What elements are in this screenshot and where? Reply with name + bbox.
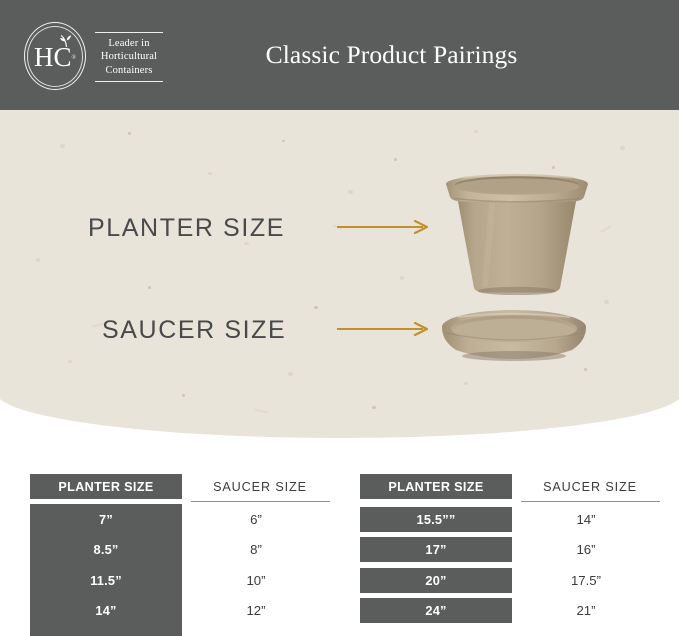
texture-speck [348,190,353,194]
texture-streak [254,409,268,414]
cell-saucer-size: 16” [512,542,660,557]
column-header-planter-size: PLANTER SIZE [30,474,182,499]
page-title: Classic Product Pairings [0,40,679,70]
texture-speck [288,372,293,376]
page-header: HC® Leader in Horticultural Containers C… [0,0,679,110]
cell-planter-size: 14” [30,603,182,618]
cell-planter-size: 17” [360,537,512,562]
cell-planter-size: 20” [360,568,512,593]
size-table-left: PLANTER SIZE SAUCER SIZE 7” 6” 8.5” 8” 1… [30,472,330,636]
table-header-row: PLANTER SIZE SAUCER SIZE [30,472,330,501]
column-header-rule [191,501,330,502]
logo-tagline-rule-top [95,32,163,33]
cell-saucer-size: 17.5” [512,573,660,588]
texture-speck [474,130,478,133]
table-body: 15.5”” 14” 17” 16” 20” 17.5” 24” 21” [360,504,660,636]
table-row: 20” 17.5” [360,565,660,596]
column-header-saucer-size: SAUCER SIZE [520,474,660,499]
texture-speck [128,132,131,135]
texture-speck [314,306,318,309]
saucer-size-label: SAUCER SIZE [102,316,286,345]
texture-speck [372,406,376,409]
table-row: 11.5” 10” [30,565,330,596]
column-header-saucer-size: SAUCER SIZE [190,474,330,499]
table-row: 15.5”” 14” [360,504,660,535]
cell-saucer-size: 8” [182,542,330,557]
table-row: 8.5” 8” [30,535,330,566]
cell-saucer-size: 14” [512,512,660,527]
texture-speck [68,360,72,363]
table-row: 7” 6” [30,504,330,535]
planter-arrow-icon [337,220,433,234]
hero-section: PLANTER SIZE [0,110,679,440]
size-chart-tables: PLANTER SIZE SAUCER SIZE 7” 6” 8.5” 8” 1… [0,472,679,636]
table-body: 7” 6” 8.5” 8” 11.5” 10” 14” 12” [30,504,330,636]
texture-speck [394,158,397,161]
cell-saucer-size: 21” [512,603,660,618]
texture-speck [148,286,151,289]
saucer-arrow-icon [337,322,433,336]
texture-speck [552,166,555,169]
table-header-row: PLANTER SIZE SAUCER SIZE [360,472,660,501]
cell-saucer-size: 6” [182,512,330,527]
texture-speck [208,172,212,175]
texture-speck [464,382,468,385]
size-table-right: PLANTER SIZE SAUCER SIZE 15.5”” 14” 17” … [360,472,660,636]
texture-speck [60,144,65,148]
table-row: 14” 12” [30,596,330,627]
saucer-dish-image [434,307,594,365]
cell-planter-size: 7” [30,512,182,527]
texture-speck [400,276,404,280]
table-row: 24” 21” [360,596,660,627]
cell-planter-size: 24” [360,598,512,623]
planter-pot-image [440,170,594,295]
texture-speck [282,140,285,142]
column-header-rule [521,501,660,502]
planter-size-label: PLANTER SIZE [88,214,285,243]
texture-speck [620,146,625,150]
texture-speck [604,300,609,304]
cell-saucer-size: 12” [182,603,330,618]
table-row: 17” 16” [360,535,660,566]
logo-tagline-rule-bottom [95,81,163,82]
texture-speck [36,258,40,262]
texture-speck [182,394,185,397]
cell-saucer-size: 10” [182,573,330,588]
cell-planter-size: 11.5” [30,573,182,588]
texture-streak [600,225,612,232]
texture-speck [584,368,587,371]
cell-planter-size: 8.5” [30,542,182,557]
cell-planter-size: 15.5”” [360,507,512,532]
column-header-planter-size: PLANTER SIZE [360,474,512,499]
